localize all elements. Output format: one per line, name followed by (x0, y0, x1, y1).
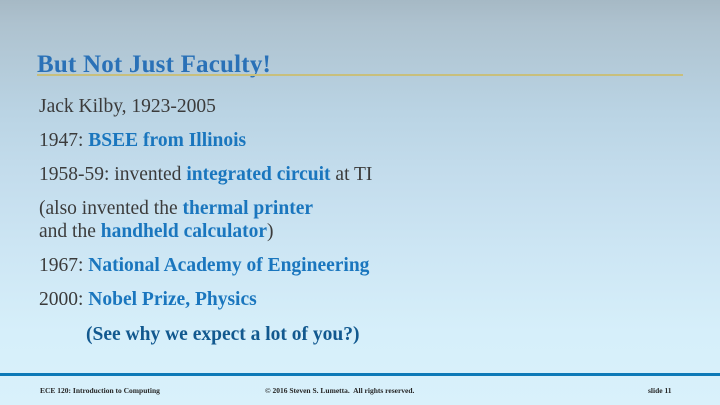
slide-body: Jack Kilby, 1923-2005 1947: BSEE from Il… (39, 95, 689, 346)
body-text: 1958-59: invented (39, 164, 186, 185)
highlight-integrated-circuit: integrated circuit (186, 164, 330, 185)
footer-copyright: © 2016 Steven S. Lumetta. All rights res… (265, 386, 414, 395)
highlight-bsee: BSEE from Illinois (88, 130, 246, 151)
title-divider (37, 74, 683, 76)
body-line-also-invented: (also invented the thermal printer (39, 197, 689, 220)
slide-canvas: But Not Just Faculty! Jack Kilby, 1923-2… (0, 0, 720, 405)
body-line-handheld: and the handheld calculator) (39, 220, 689, 243)
body-line-1958: 1958-59: invented integrated circuit at … (39, 163, 689, 186)
highlight-nae: National Academy of Engineering (88, 255, 369, 276)
footer-course-label: ECE 120: Introduction to Computing (40, 386, 160, 395)
body-text: ) (267, 221, 274, 242)
body-text: 1947: (39, 130, 88, 151)
body-text: (also invented the (39, 198, 183, 219)
highlight-thermal-printer: thermal printer (183, 198, 314, 219)
body-text: and the (39, 221, 101, 242)
body-line-1967: 1967: National Academy of Engineering (39, 254, 689, 277)
slide-footer: ECE 120: Introduction to Computing © 201… (0, 376, 720, 405)
body-line-name: Jack Kilby, 1923-2005 (39, 95, 689, 118)
highlight-handheld-calculator: handheld calculator (101, 221, 267, 242)
body-line-2000: 2000: Nobel Prize, Physics (39, 288, 689, 311)
closing-remark: (See why we expect a lot of you?) (86, 323, 689, 346)
body-text: 2000: (39, 289, 88, 310)
body-text: at TI (331, 164, 373, 185)
highlight-nobel-prize: Nobel Prize, Physics (88, 289, 256, 310)
body-text: Jack Kilby, 1923-2005 (39, 96, 216, 117)
body-text: 1967: (39, 255, 88, 276)
body-line-1947: 1947: BSEE from Illinois (39, 129, 689, 152)
footer-slide-number: slide 11 (648, 386, 672, 395)
